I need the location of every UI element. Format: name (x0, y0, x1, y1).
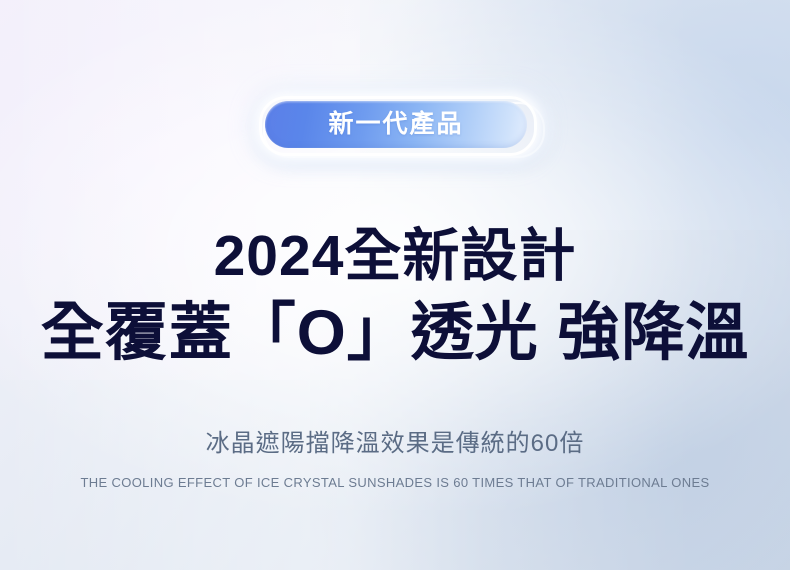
headline-line-2: 全覆蓋「O」透光 強降溫 (0, 298, 790, 369)
badge-pill[interactable]: 新一代產品 (265, 101, 527, 148)
new-generation-badge[interactable]: 新一代產品 (245, 92, 545, 154)
headline-line-1: 2024全新設計 (0, 226, 790, 288)
hero-content: 新一代產品 2024全新設計 全覆蓋「O」透光 強降溫 冰晶遮陽擋降溫效果是傳統… (0, 0, 790, 570)
subtitle-block: 冰晶遮陽擋降溫效果是傳統的60倍 THE COOLING EFFECT OF I… (0, 430, 790, 490)
subtitle-chinese: 冰晶遮陽擋降溫效果是傳統的60倍 (0, 430, 790, 459)
badge-label: 新一代產品 (328, 112, 463, 137)
headline-block: 2024全新設計 全覆蓋「O」透光 強降溫 (0, 226, 790, 368)
hero-banner: 新一代產品 2024全新設計 全覆蓋「O」透光 強降溫 冰晶遮陽擋降溫效果是傳統… (0, 0, 790, 570)
subtitle-english: THE COOLING EFFECT OF ICE CRYSTAL SUNSHA… (0, 475, 790, 491)
